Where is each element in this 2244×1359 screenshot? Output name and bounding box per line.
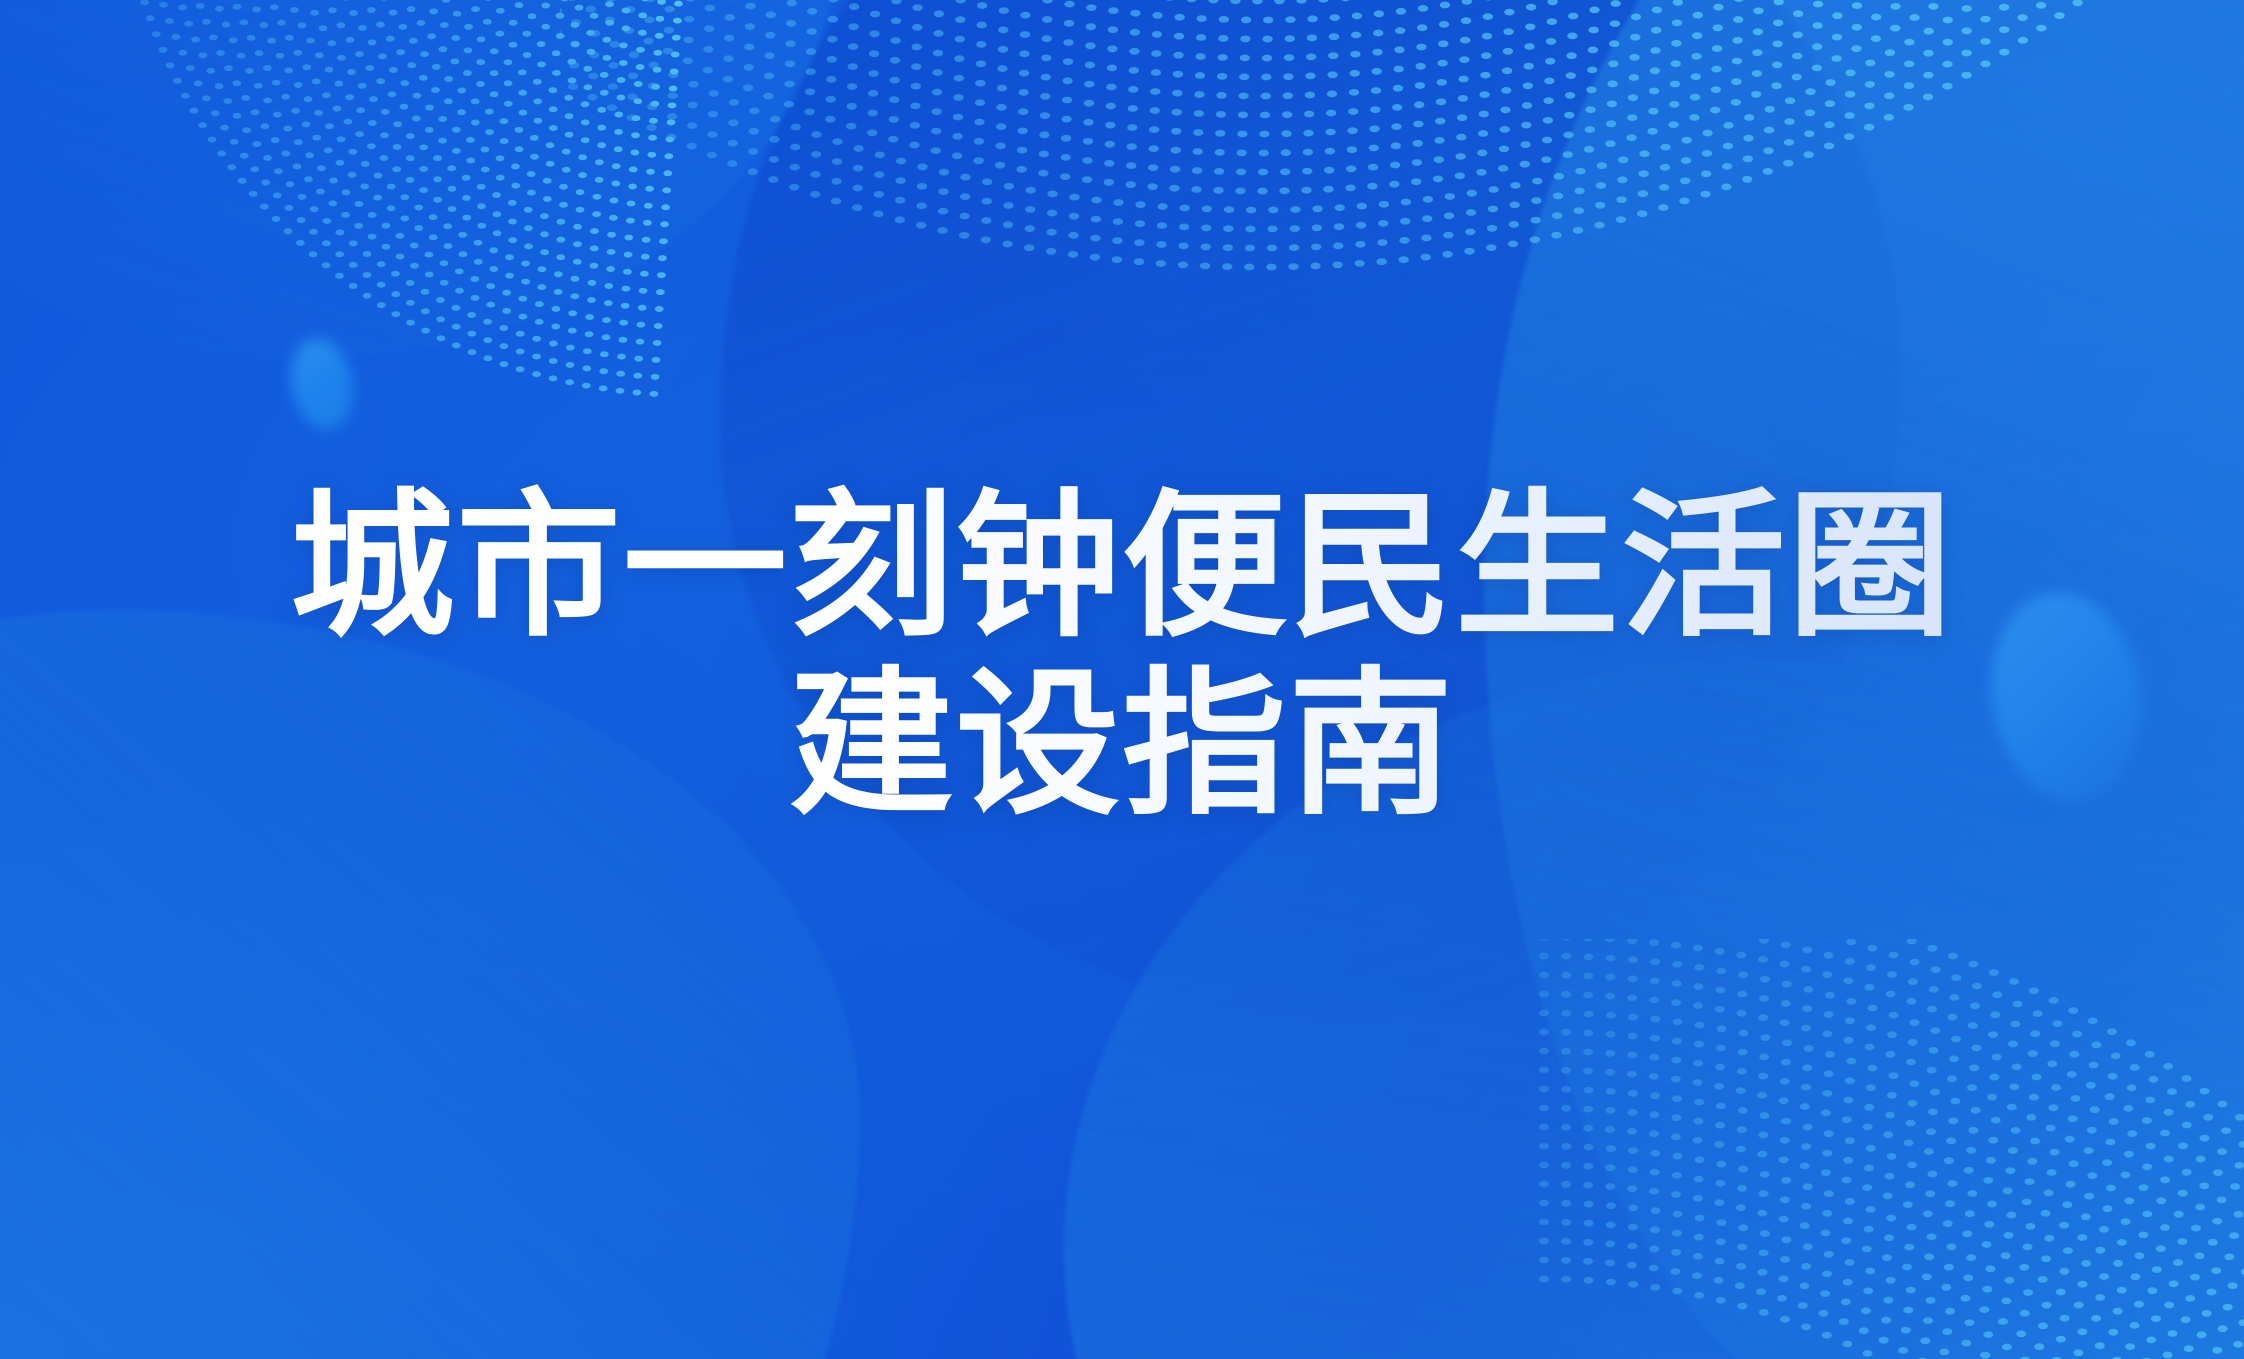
halftone-dots-bottom-right-icon <box>1304 939 2244 1359</box>
halftone-dots-top-right-icon <box>560 0 2244 410</box>
title-line-1: 城市一刻钟便民生活圈 <box>0 478 2244 656</box>
poster-title: 城市一刻钟便民生活圈 建设指南 <box>0 478 2244 834</box>
poster-canvas: 城市一刻钟便民生活圈 建设指南 <box>0 0 2244 1359</box>
title-line-2: 建设指南 <box>0 656 2244 834</box>
